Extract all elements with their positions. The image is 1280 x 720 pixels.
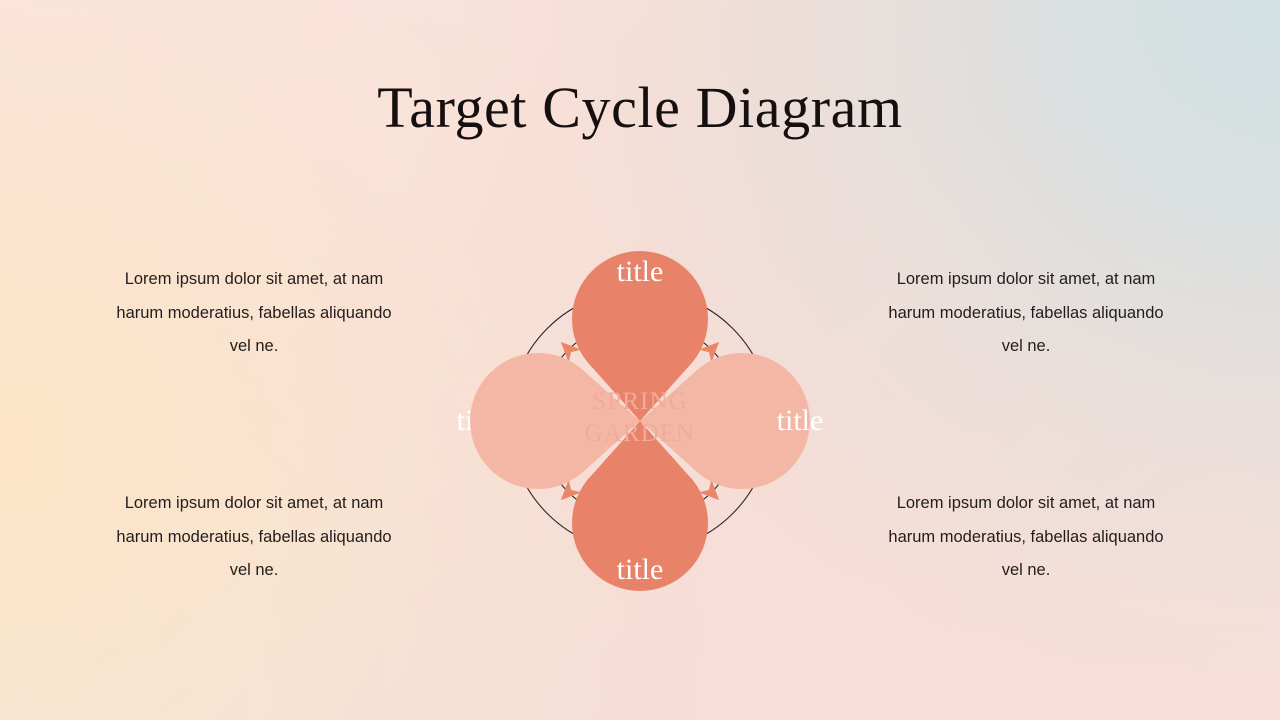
description-top-left: Lorem ipsum dolor sit amet, at nam harum…: [114, 263, 394, 364]
description-top-right: Lorem ipsum dolor sit amet, at nam harum…: [886, 263, 1166, 364]
cycle-node-top-label: title: [617, 255, 664, 288]
description-bottom-left: Lorem ipsum dolor sit amet, at nam harum…: [114, 487, 394, 588]
description-bottom-right: Lorem ipsum dolor sit amet, at nam harum…: [886, 487, 1166, 588]
slide-canvas: Target Cycle Diagram: [0, 0, 1280, 720]
center-label-line1: SPRING: [592, 388, 688, 415]
cycle-node-bottom-label: title: [617, 553, 664, 586]
center-label-line2: GARDEN: [585, 420, 696, 447]
cycle-node-right-label: title: [777, 404, 824, 437]
target-cycle-diagram: title title title title SPRING GARDEN: [390, 171, 890, 671]
page-title: Target Cycle Diagram: [0, 76, 1280, 140]
